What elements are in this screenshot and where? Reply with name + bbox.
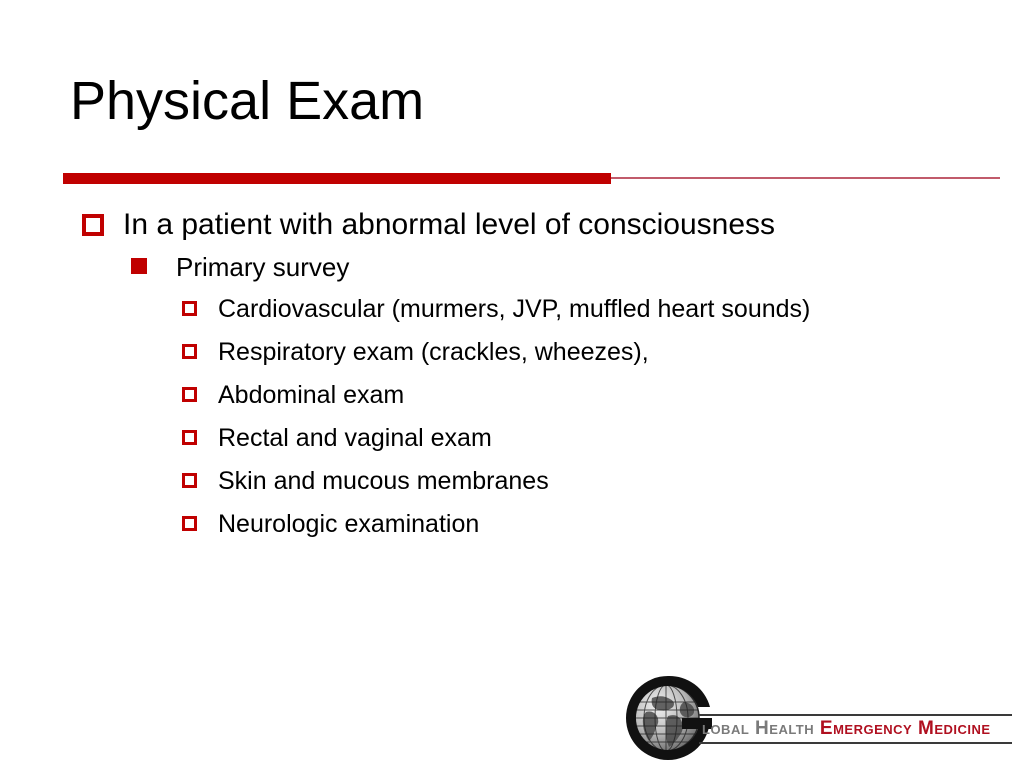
hollow-square-bullet-icon xyxy=(182,387,197,402)
list-item: Neurologic examination xyxy=(0,503,1024,546)
list-item: Primary survey xyxy=(0,246,1024,288)
list-item-label: Primary survey xyxy=(176,246,349,288)
list-item: Respiratory exam (crackles, wheezes), xyxy=(0,331,1024,374)
footer-logo: lobal Health Emergency Medicine xyxy=(622,672,1012,764)
list-item-label: In a patient with abnormal level of cons… xyxy=(123,203,775,246)
hollow-square-bullet-icon xyxy=(82,214,104,236)
list-item-label: Abdominal exam xyxy=(218,374,404,417)
list-item-label: Neurologic examination xyxy=(218,503,479,546)
list-item: In a patient with abnormal level of cons… xyxy=(0,203,1024,246)
logo-rule-top xyxy=(699,714,1012,716)
hollow-square-bullet-icon xyxy=(182,344,197,359)
filled-square-bullet-icon xyxy=(131,258,147,274)
logo-rule-bottom xyxy=(699,742,1012,744)
list-item-label: Rectal and vaginal exam xyxy=(218,417,492,460)
list-item-label: Skin and mucous membranes xyxy=(218,460,549,503)
list-item: Abdominal exam xyxy=(0,374,1024,417)
logo-wordmark: lobal Health Emergency Medicine xyxy=(699,714,1012,744)
list-item: Cardiovascular (murmers, JVP, muffled he… xyxy=(0,288,1024,331)
bullet-list: In a patient with abnormal level of cons… xyxy=(0,203,1024,546)
list-item: Rectal and vaginal exam xyxy=(0,417,1024,460)
hollow-square-bullet-icon xyxy=(182,430,197,445)
logo-words: lobal Health Emergency Medicine xyxy=(702,717,991,741)
slide: Physical Exam In a patient with abnormal… xyxy=(0,0,1024,768)
hollow-square-bullet-icon xyxy=(182,516,197,531)
logo-text-global-health: lobal Health xyxy=(702,718,814,739)
title-divider xyxy=(63,172,1000,185)
logo-text-emergency-medicine: Emergency Medicine xyxy=(820,718,991,739)
list-item-label: Respiratory exam (crackles, wheezes), xyxy=(218,331,649,374)
hollow-square-bullet-icon xyxy=(182,301,197,316)
page-title: Physical Exam xyxy=(70,72,424,130)
divider-thick-bar xyxy=(63,173,611,184)
hollow-square-bullet-icon xyxy=(182,473,197,488)
list-item-label: Cardiovascular (murmers, JVP, muffled he… xyxy=(218,288,810,331)
list-item: Skin and mucous membranes xyxy=(0,460,1024,503)
